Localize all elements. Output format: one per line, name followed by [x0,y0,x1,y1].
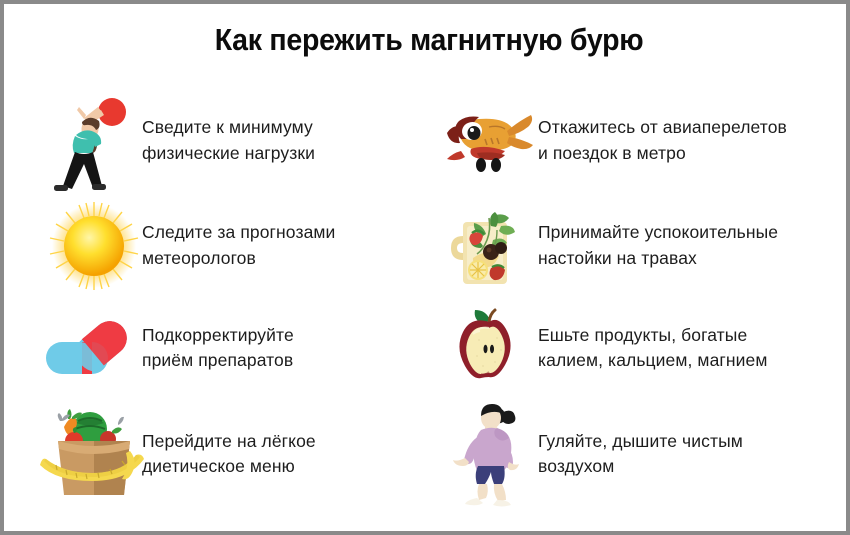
cartoon-airplane-icon [436,88,542,193]
herbal-tea-mug-icon [436,193,542,298]
tip-text: Перейдите на лёгкое диетическое меню [142,429,316,480]
tip-item-8: Гуляйте, дышите чистым воздухом [424,398,846,510]
tip-text: Откажитесь от авиаперелетов и поездок в … [538,115,787,166]
tip-text: Следите за прогнозами метеорологов [142,220,335,271]
tip-line-2: метеорологов [142,246,335,271]
tip-line-1: Следите за прогнозами [142,220,335,245]
tip-line-2: воздухом [538,454,743,479]
tip-line-1: Откажитесь от авиаперелетов [538,115,787,140]
sun-icon [38,193,150,298]
tip-line-1: Ешьте продукты, богатые [538,323,768,348]
grocery-bag-with-measuring-tape-icon [38,398,150,510]
tip-line-2: приём препаратов [142,348,294,373]
tip-line-1: Принимайте успокоительные [538,220,778,245]
tip-line-2: диетическое меню [142,454,316,479]
tip-text: Гуляйте, дышите чистым воздухом [538,429,743,480]
pill-capsules-icon [38,298,150,398]
tip-line-1: Гуляйте, дышите чистым [538,429,743,454]
tip-line-1: Перейдите на лёгкое [142,429,316,454]
tip-line-2: калием, кальцием, магнием [538,348,768,373]
tip-item-5: Подкорректируйте приём препаратов [4,298,424,398]
tips-grid: Сведите к минимуму физические нагрузки [4,88,846,510]
tip-text: Сведите к минимуму физические нагрузки [142,115,315,166]
infographic-poster: Как пережить магнитную бурю [0,0,850,535]
tip-item-4: Принимайте успокоительные настойки на тр… [424,193,846,298]
tip-item-6: Ешьте продукты, богатые калием, кальцием… [424,298,846,398]
tip-text: Подкорректируйте приём препаратов [142,323,294,374]
tip-item-7: Перейдите на лёгкое диетическое меню [4,398,424,510]
tip-line-2: физические нагрузки [142,141,315,166]
tip-line-2: и поездок в метро [538,141,787,166]
walking-person-icon [436,398,542,510]
woman-exercising-with-ball-icon [38,88,150,193]
tip-item-1: Сведите к минимуму физические нагрузки [4,88,424,193]
apple-icon [436,298,542,398]
tip-line-2: настойки на травах [538,246,778,271]
tip-item-3: Следите за прогнозами метеорологов [4,193,424,298]
tip-text: Принимайте успокоительные настойки на тр… [538,220,778,271]
tip-item-2: Откажитесь от авиаперелетов и поездок в … [424,88,846,193]
tip-line-1: Подкорректируйте [142,323,294,348]
tip-text: Ешьте продукты, богатые калием, кальцием… [538,323,768,374]
page-title: Как пережить магнитную бурю [38,22,820,58]
tip-line-1: Сведите к минимуму [142,115,315,140]
